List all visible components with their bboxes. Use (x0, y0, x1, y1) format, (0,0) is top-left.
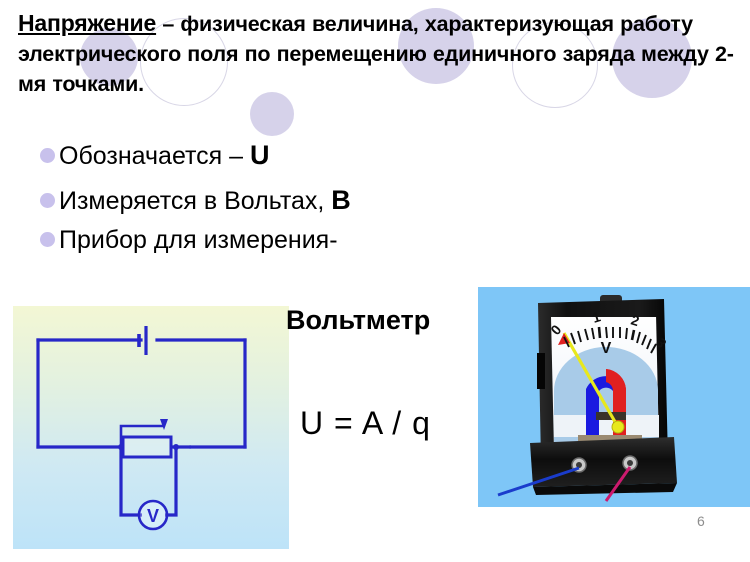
voltmeter-device-svg: 0 1 2 3 V (478, 287, 750, 507)
circuit-diagram-panel: V (13, 306, 289, 549)
rheostat-symbol (118, 419, 191, 457)
terminal-left-hole (576, 462, 582, 468)
dial-window (551, 314, 659, 451)
case-side-latch (537, 353, 545, 389)
list-item: Прибор для измерения- (40, 224, 500, 255)
unit-label: V (601, 340, 612, 357)
bullet-text: Обозначается – U (59, 140, 270, 171)
bullet-label: Обозначается – (59, 142, 250, 170)
list-item: Обозначается – U (40, 140, 500, 171)
bullet-symbol: В (331, 185, 351, 215)
bullet-label: Измеряется в Вольтах, (59, 187, 331, 215)
page-title: Напряжение – физическая величина, характ… (18, 8, 734, 99)
bullet-list: Обозначается – U Измеряется в Вольтах, В… (40, 140, 500, 269)
needle-pivot (612, 421, 624, 433)
formula-text: U = A / q (300, 405, 431, 442)
meter-base (530, 437, 677, 487)
rheostat-arrow-icon (160, 419, 168, 430)
circuit-diagram-svg: V (13, 306, 289, 549)
rheostat-body (123, 437, 171, 457)
bullet-symbol: U (250, 140, 270, 170)
voltmeter-word: Вольтметр (286, 305, 430, 336)
page-number: 6 (697, 513, 705, 529)
terminal-right-hole (627, 460, 633, 466)
list-item: Измеряется в Вольтах, В (40, 185, 500, 216)
bullet-label: Прибор для измерения- (59, 226, 338, 254)
voltmeter-letter: V (147, 506, 159, 526)
title-term: Напряжение (18, 10, 156, 36)
slide-header: Напряжение – физическая величина, характ… (18, 8, 734, 99)
voltmeter-photo-panel: 0 1 2 3 V (478, 287, 750, 507)
bullet-dot-icon (40, 232, 55, 247)
bullet-text: Измеряется в Вольтах, В (59, 185, 351, 216)
bullet-text: Прибор для измерения- (59, 224, 338, 255)
bullet-dot-icon (40, 148, 55, 163)
bullet-dot-icon (40, 193, 55, 208)
